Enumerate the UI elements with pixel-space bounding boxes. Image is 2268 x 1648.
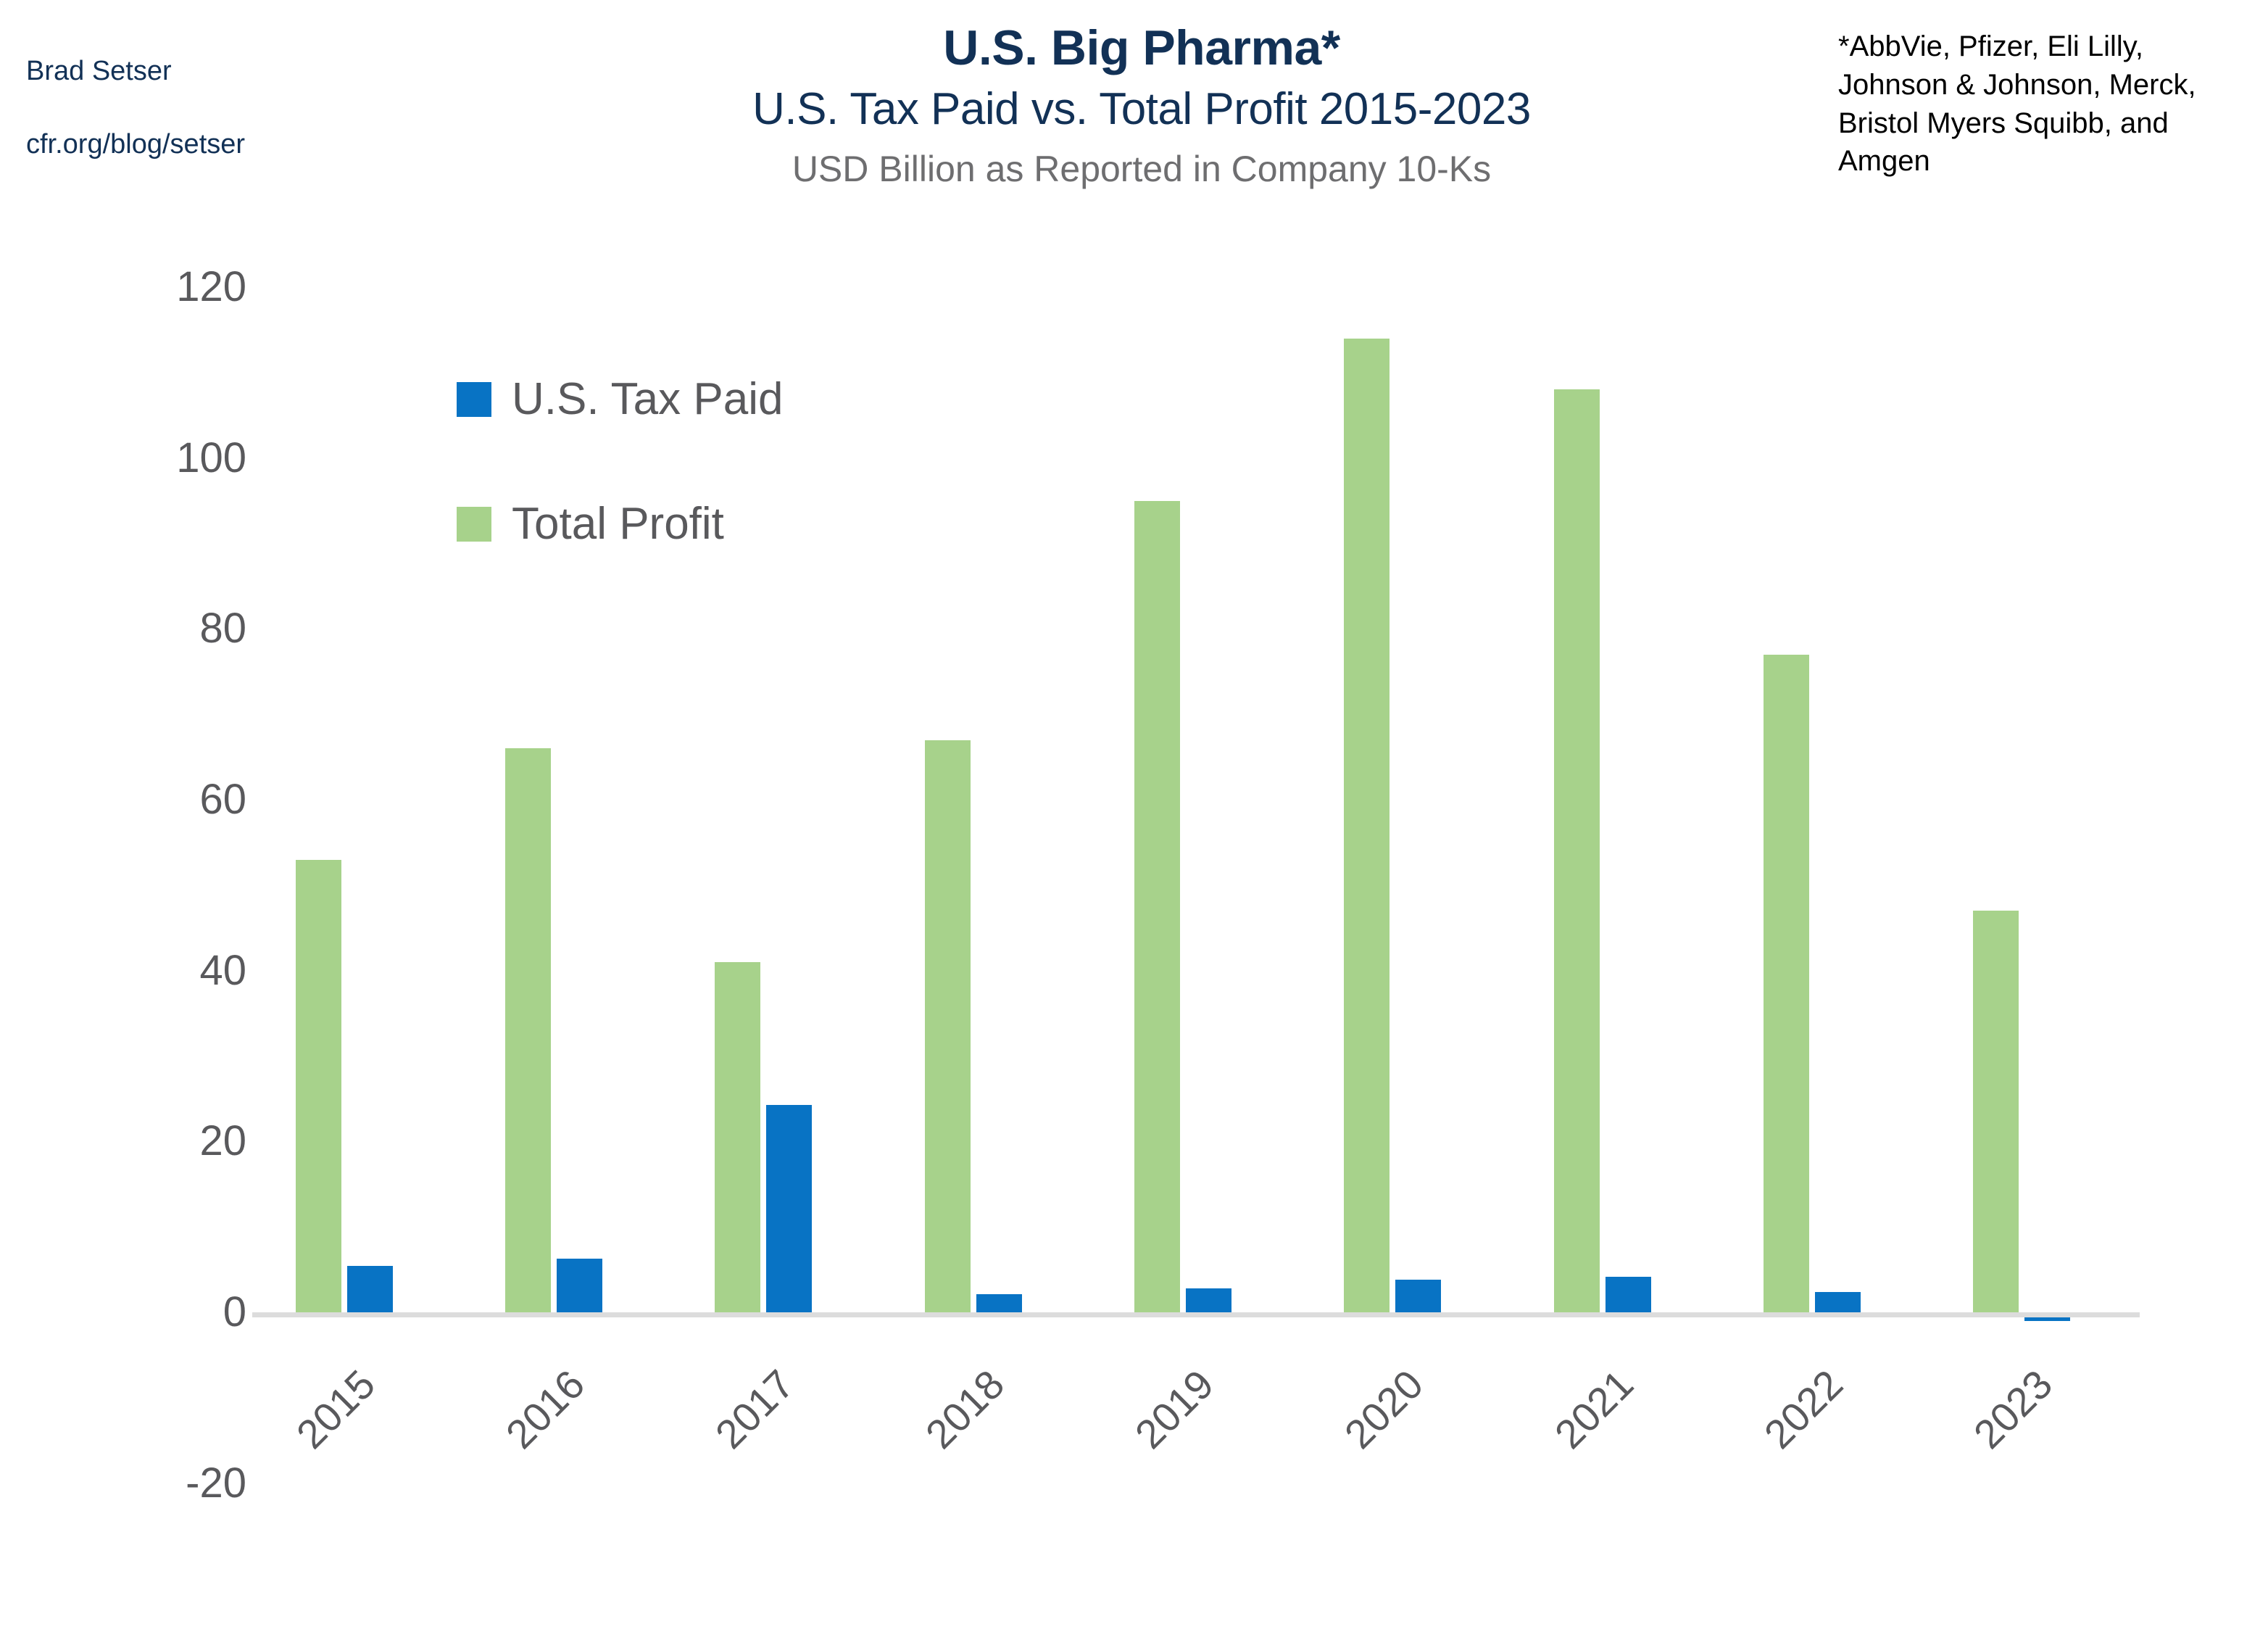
bar-total-profit-2020[interactable] xyxy=(1344,339,1390,1312)
bar-total-profit-2016[interactable] xyxy=(505,748,551,1312)
y-axis-tick-label: 0 xyxy=(29,1291,246,1333)
legend-item-total-profit[interactable]: Total Profit xyxy=(457,502,783,547)
chart-page: Brad Setser cfr.org/blog/setser U.S. Big… xyxy=(0,0,2268,1648)
x-axis-tick-label-2020: 2020 xyxy=(1338,1363,1431,1456)
y-axis-tick-label: 60 xyxy=(29,779,246,821)
x-axis-tick-label-2017: 2017 xyxy=(709,1363,802,1456)
y-axis-tick-label: 40 xyxy=(29,950,246,992)
bar-u-s-tax-paid-2019[interactable] xyxy=(1186,1288,1231,1312)
bar-total-profit-2023[interactable] xyxy=(1973,911,2019,1312)
bar-u-s-tax-paid-2016[interactable] xyxy=(557,1259,602,1312)
legend: U.S. Tax PaidTotal Profit xyxy=(457,377,783,626)
x-axis-tick-label-2018: 2018 xyxy=(918,1363,1011,1456)
bar-total-profit-2022[interactable] xyxy=(1764,655,1809,1312)
bar-total-profit-2019[interactable] xyxy=(1134,501,1180,1312)
bar-total-profit-2021[interactable] xyxy=(1554,389,1600,1312)
bar-u-s-tax-paid-2020[interactable] xyxy=(1395,1280,1441,1312)
bar-total-profit-2018[interactable] xyxy=(925,740,971,1312)
y-axis-tick-label: 20 xyxy=(29,1120,246,1162)
legend-swatch-icon xyxy=(457,382,491,417)
y-axis: 120100806040200-20 xyxy=(14,0,246,1648)
bar-u-s-tax-paid-2022[interactable] xyxy=(1815,1292,1861,1312)
bar-total-profit-2015[interactable] xyxy=(296,860,341,1312)
legend-label: U.S. Tax Paid xyxy=(512,377,783,422)
y-axis-tick-label: -20 xyxy=(29,1462,246,1504)
x-axis-tick-label-2015: 2015 xyxy=(289,1363,382,1456)
legend-label: Total Profit xyxy=(512,502,724,547)
bar-u-s-tax-paid-2015[interactable] xyxy=(347,1266,393,1312)
x-axis-tick-label-2022: 2022 xyxy=(1757,1363,1850,1456)
y-axis-tick-label: 120 xyxy=(29,266,246,308)
x-axis-tick-label-2019: 2019 xyxy=(1128,1363,1221,1456)
legend-swatch-icon xyxy=(457,507,491,542)
x-axis-tick-label-2016: 2016 xyxy=(499,1363,591,1456)
y-axis-tick-label: 80 xyxy=(29,608,246,650)
bar-u-s-tax-paid-2023[interactable] xyxy=(2024,1317,2070,1321)
bar-u-s-tax-paid-2018[interactable] xyxy=(976,1294,1022,1312)
plot-area: 120100806040200-20 201520162017201820192… xyxy=(0,0,2268,1648)
bar-u-s-tax-paid-2017[interactable] xyxy=(766,1105,812,1312)
zero-axis-line xyxy=(252,1312,2140,1317)
bar-total-profit-2017[interactable] xyxy=(715,962,760,1312)
x-axis-tick-label-2023: 2023 xyxy=(1967,1363,2060,1456)
y-axis-tick-label: 100 xyxy=(29,437,246,479)
x-axis-tick-label-2021: 2021 xyxy=(1548,1363,1640,1456)
bar-u-s-tax-paid-2021[interactable] xyxy=(1606,1277,1651,1312)
legend-item-u-s-tax-paid[interactable]: U.S. Tax Paid xyxy=(457,377,783,422)
